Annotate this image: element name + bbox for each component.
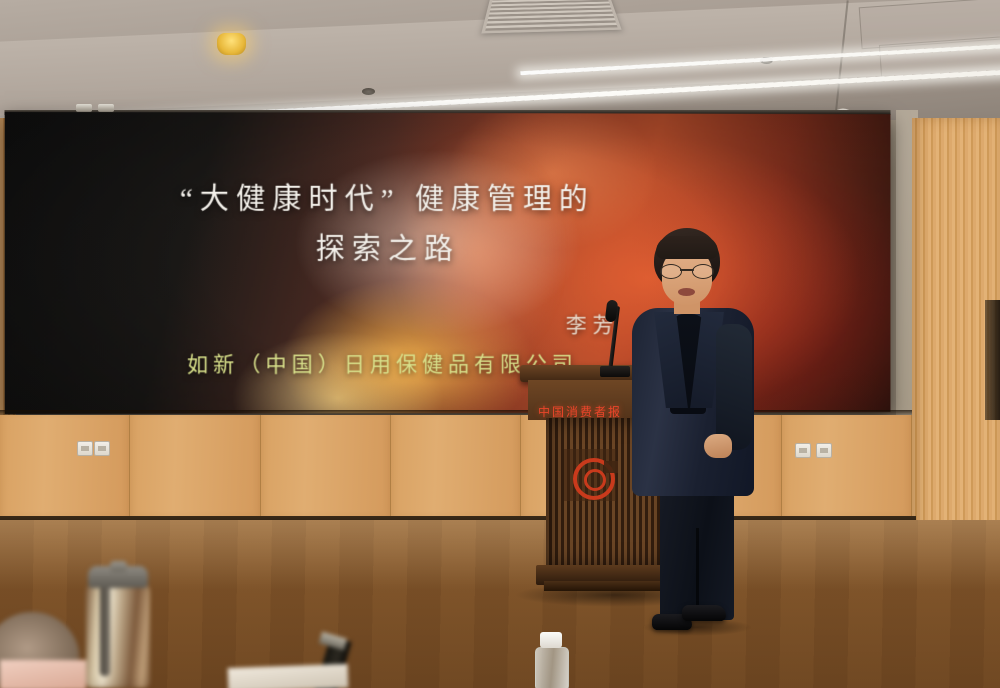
thermos-knob bbox=[110, 561, 127, 572]
slide-title-line1: “大健康时代” 健康管理的 bbox=[180, 184, 595, 216]
speaker-hand bbox=[704, 434, 732, 458]
stainless-thermos bbox=[80, 560, 156, 688]
air-vent-icon bbox=[481, 0, 621, 33]
speaker-person bbox=[628, 228, 758, 638]
emblem-gap bbox=[604, 461, 618, 473]
wall-panel bbox=[261, 415, 391, 523]
ceiling-dome-light bbox=[217, 33, 246, 55]
wall-panel bbox=[782, 415, 912, 523]
wall-switch-icon[interactable] bbox=[816, 443, 832, 458]
speaker-mouth bbox=[678, 288, 695, 296]
glasses-lens-left bbox=[660, 264, 682, 279]
bottle-cap bbox=[540, 632, 562, 648]
glasses-icon bbox=[660, 264, 714, 277]
thermos-body bbox=[86, 582, 150, 688]
ceiling-spot-icon bbox=[362, 88, 375, 95]
speaker-fringe bbox=[656, 236, 718, 259]
photo-scene: “大健康时代” 健康管理的 探索之路 李芳 如新（中国）日用保健品有限公司 中国… bbox=[0, 0, 1000, 688]
speaker-arm-right bbox=[716, 324, 752, 450]
foreground-paper bbox=[0, 660, 86, 688]
screen-bracket bbox=[76, 104, 92, 112]
wall-panel bbox=[130, 415, 260, 523]
wall-panel-row bbox=[0, 415, 912, 523]
wall-outlet-icon[interactable] bbox=[795, 443, 811, 458]
c-circle-emblem-icon bbox=[564, 449, 616, 501]
water-bottle bbox=[533, 632, 569, 688]
speaker-shoe bbox=[682, 605, 726, 621]
screen-bracket bbox=[98, 104, 114, 112]
wall-outlet-icon[interactable] bbox=[77, 441, 93, 456]
wall-panel bbox=[391, 415, 521, 523]
microphone-base bbox=[600, 366, 630, 377]
wall-panel bbox=[0, 415, 130, 523]
wall-switch-icon[interactable] bbox=[94, 441, 110, 456]
thermos-handle bbox=[100, 584, 110, 676]
wall-corner-shadow bbox=[985, 300, 1000, 420]
glasses-lens-right bbox=[692, 264, 714, 279]
bottle-body bbox=[535, 647, 569, 688]
foreground-paper bbox=[228, 664, 349, 688]
